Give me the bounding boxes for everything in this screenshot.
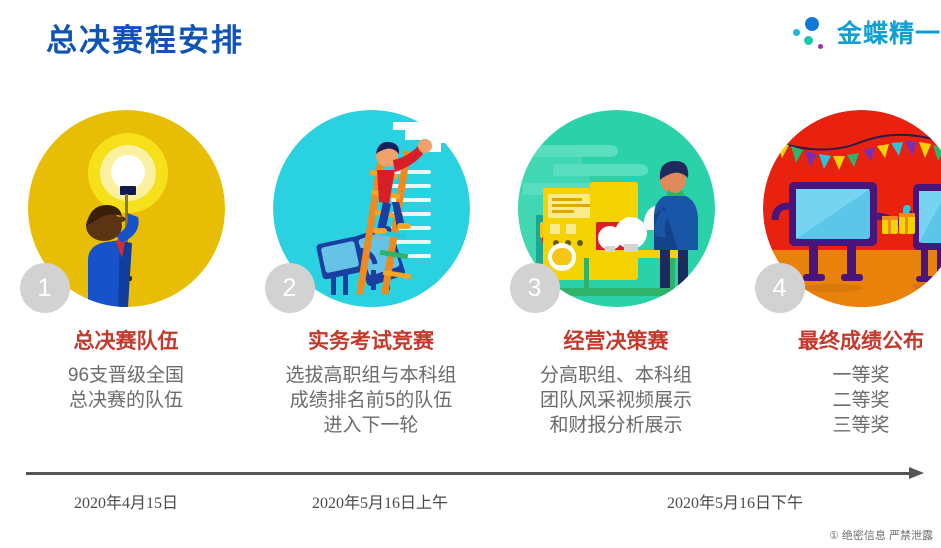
timeline-line	[26, 472, 910, 475]
step-2-body-line: 成绩排名前5的队伍	[253, 388, 489, 413]
step-4-body-line: 二等奖	[743, 388, 941, 413]
step-4-body-line: 一等奖	[743, 363, 941, 388]
step-card-2[interactable]: 2 实务考试竞赛 选拔高职组与本科组 成绩排名前5的队伍 进入下一轮	[253, 110, 489, 438]
step-3-number-badge: 3	[510, 263, 560, 313]
page-title: 总决赛程安排	[46, 15, 244, 60]
step-3-body: 分高职组、本科组 团队风采视频展示 和财报分析展示	[498, 363, 734, 438]
step-1-number-badge: 1	[20, 263, 70, 313]
step-3-illustration: 3	[518, 110, 715, 307]
timeline-date-2: 2020年5月16日上午	[290, 489, 470, 513]
step-2-illustration: 2	[273, 110, 470, 307]
step-2-title: 实务考试竞赛	[253, 325, 489, 355]
step-1-body-line: 96支晋级全国	[8, 363, 244, 388]
step-2-body: 选拔高职组与本科组 成绩排名前5的队伍 进入下一轮	[253, 363, 489, 438]
step-3-body-line: 和财报分析展示	[498, 413, 734, 438]
confidential-watermark: ① 绝密信息 严禁泄露	[829, 527, 933, 543]
slide-canvas: 总决赛程安排 金蝶精一	[0, 0, 941, 548]
step-4-title: 最终成绩公布	[743, 325, 941, 355]
brand-logo: 金蝶精一	[789, 14, 941, 50]
step-4-body: 一等奖 二等奖 三等奖	[743, 363, 941, 438]
timeline-date-1: 2020年4月15日	[46, 489, 206, 513]
step-2-body-line: 选拔高职组与本科组	[253, 363, 489, 388]
timeline-axis	[26, 468, 924, 480]
brand-name: 金蝶精一	[837, 14, 941, 50]
step-4-body-line: 三等奖	[743, 413, 941, 438]
step-2-number-badge: 2	[265, 263, 315, 313]
timeline-date-3: 2020年5月16日下午	[640, 489, 830, 513]
step-card-3[interactable]: 3 经营决策赛 分高职组、本科组 团队风采视频展示 和财报分析展示	[498, 110, 734, 438]
step-1-title: 总决赛队伍	[8, 325, 244, 355]
step-card-4[interactable]: 4 最终成绩公布 一等奖 二等奖 三等奖	[743, 110, 941, 438]
step-1-illustration: 1	[28, 110, 225, 307]
step-3-title: 经营决策赛	[498, 325, 734, 355]
step-3-body-line: 分高职组、本科组	[498, 363, 734, 388]
step-3-body-line: 团队风采视频展示	[498, 388, 734, 413]
step-2-body-line: 进入下一轮	[253, 413, 489, 438]
step-1-body: 96支晋级全国 总决赛的队伍	[8, 363, 244, 413]
step-1-body-line: 总决赛的队伍	[8, 388, 244, 413]
step-card-1[interactable]: 1 总决赛队伍 96支晋级全国 总决赛的队伍	[8, 110, 244, 413]
step-4-illustration: 4	[763, 110, 941, 307]
timeline-arrow-icon	[909, 467, 924, 479]
brand-dots-icon	[789, 15, 831, 49]
step-4-number-badge: 4	[755, 263, 805, 313]
